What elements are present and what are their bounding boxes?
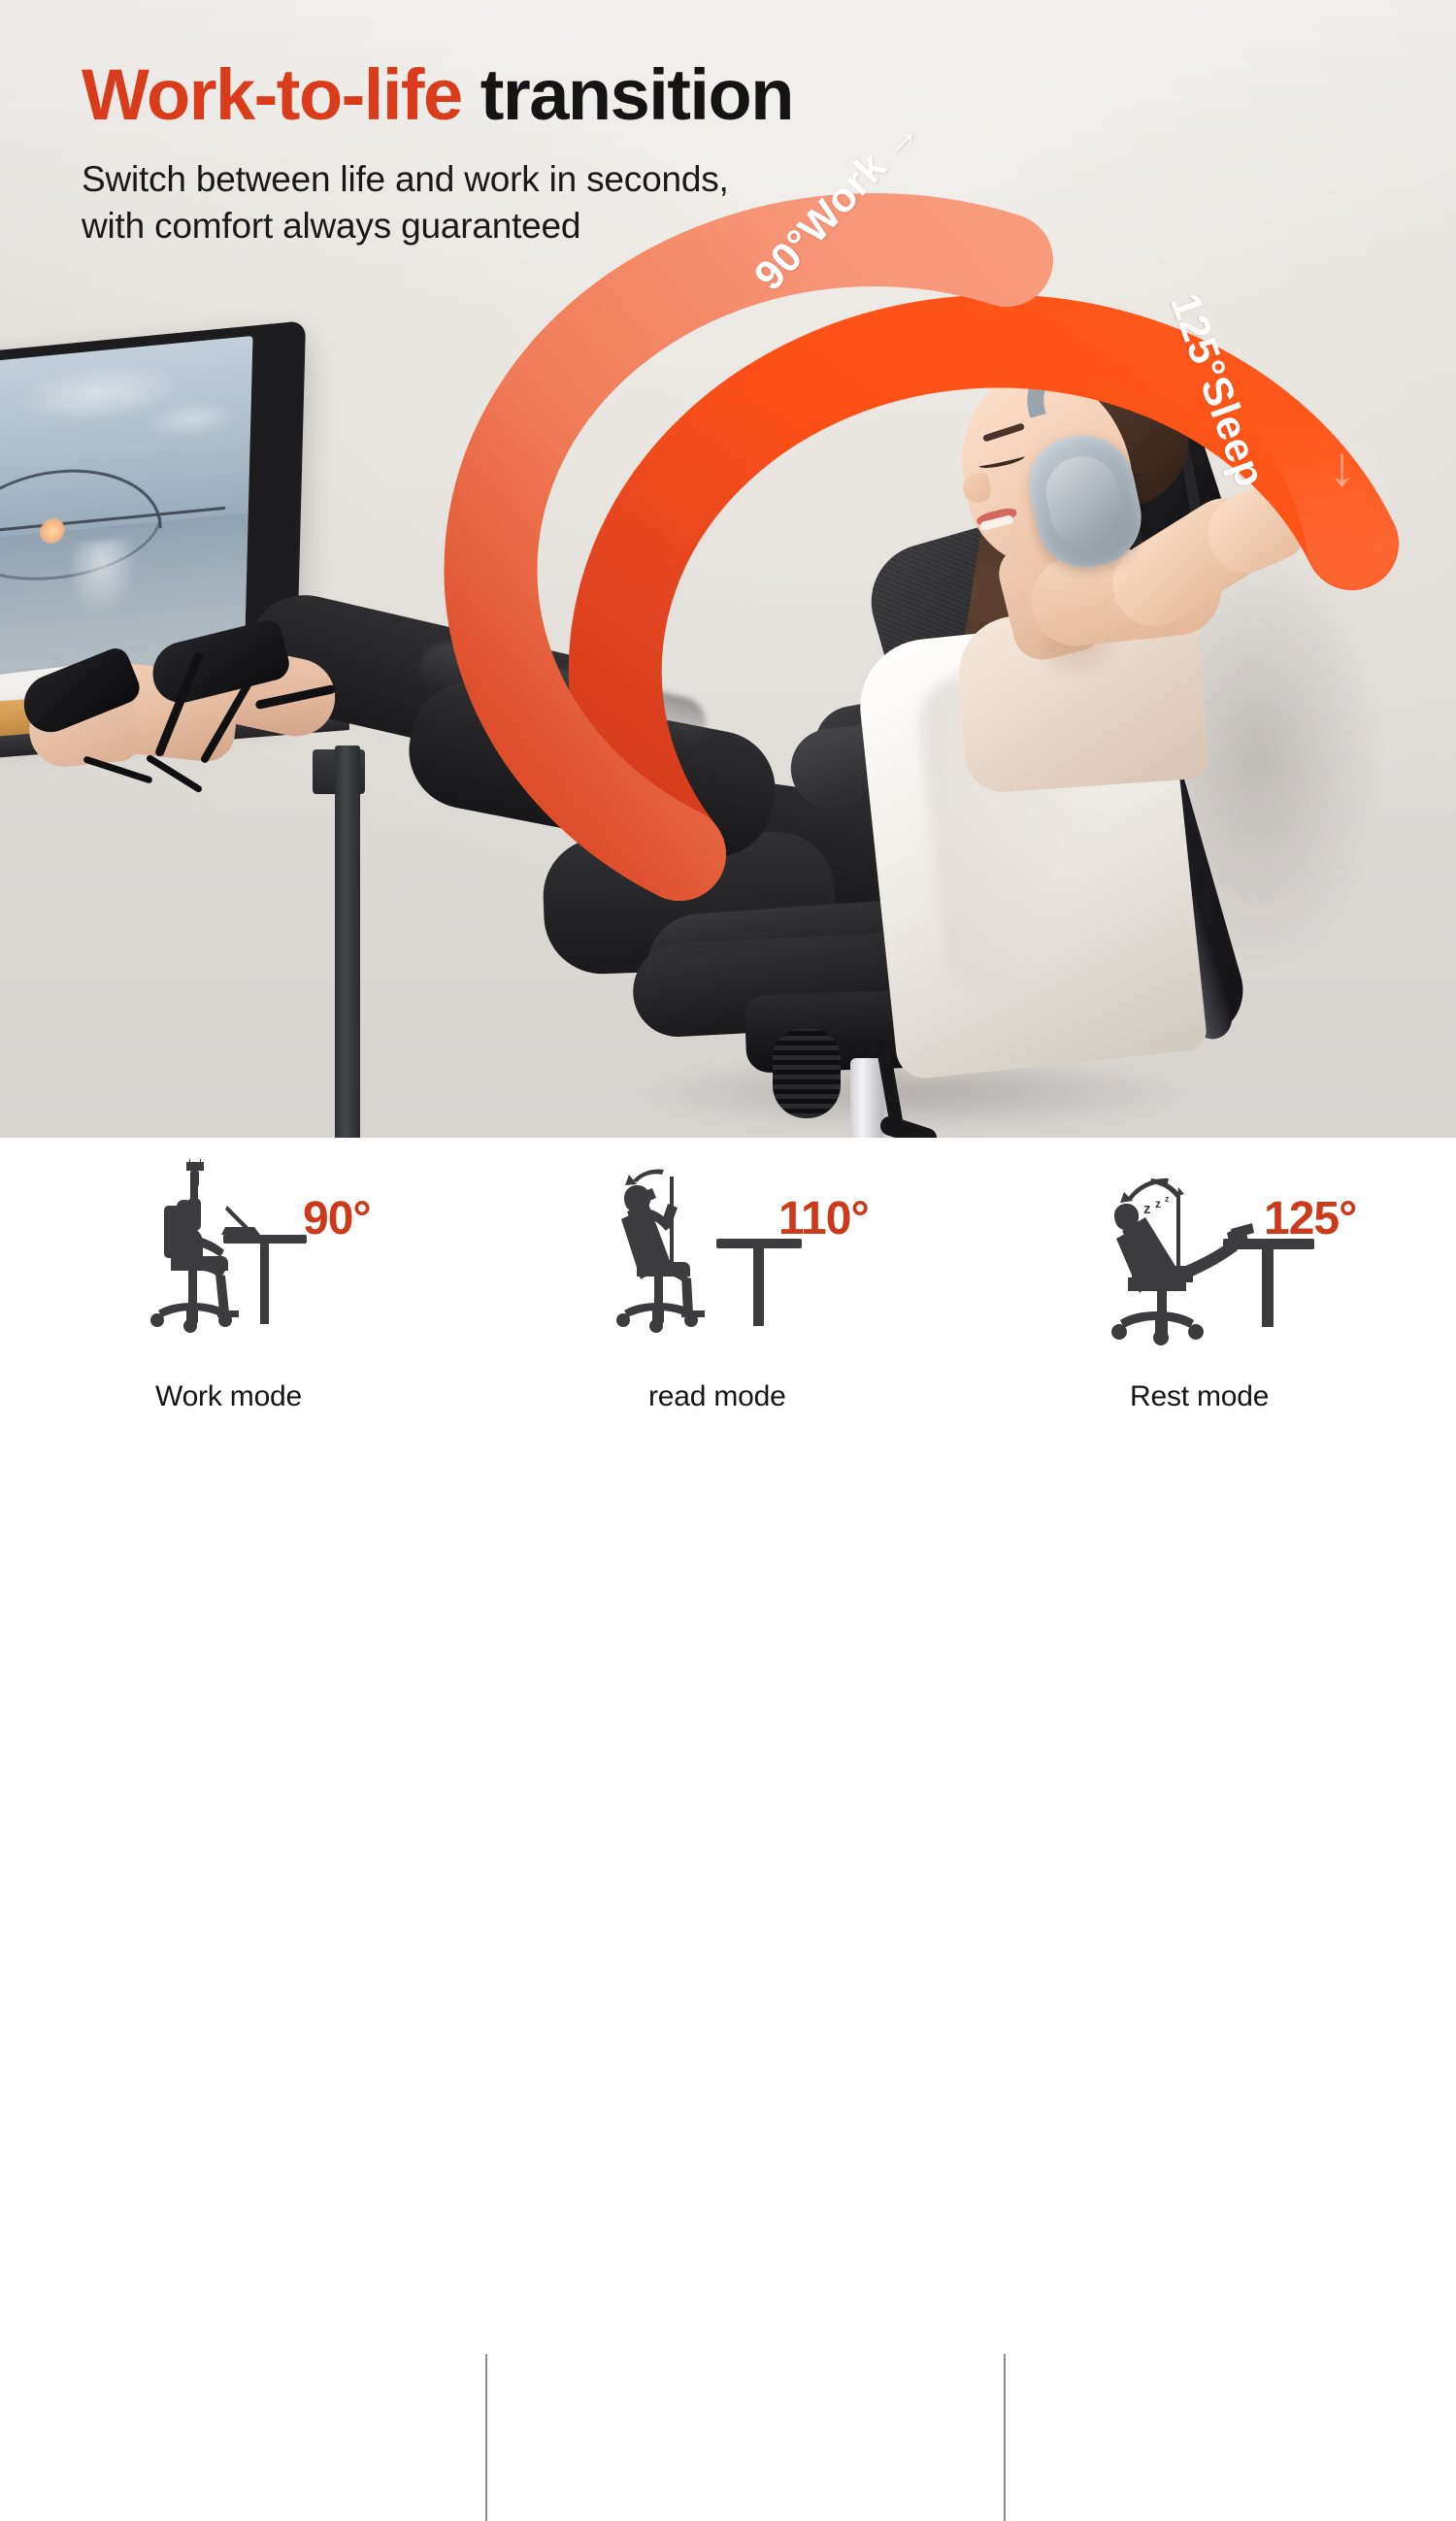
svg-text:z: z [1143,1201,1151,1217]
mode-angle-read: 110° [778,1196,869,1243]
hero-text-block: Work-to-life transition Switch between l… [82,58,1013,249]
mode-card-rest[interactable]: z z z [1004,1138,1456,1456]
person-reclined-sleeping-feet-up-icon: z z z [1107,1155,1359,1349]
subtitle-line-1: Switch between life and work in seconds, [82,156,1013,203]
recline-modes-panel: 90° Work mode [0,1138,1456,1456]
arrow-down-icon: ↓ [1328,439,1356,495]
mode-card-work[interactable]: 90° Work mode [0,1138,485,1456]
mode-icon-row: 110° [485,1138,1004,1359]
title-rest-part: transition [462,54,793,135]
svg-text:z: z [1155,1197,1161,1211]
mode-icon-row: z z z [1004,1138,1456,1359]
mode-card-read[interactable]: 110° read mode [485,1138,1004,1456]
mode-label-rest: Rest mode [1130,1380,1269,1413]
hero-photo-section: 90°Work→ 125°Sleep ↓ Work-to-life transi… [0,0,1456,1138]
person-reclined-reading-icon [608,1155,850,1349]
mode-label-work: Work mode [155,1380,302,1413]
mode-label-read: read mode [648,1380,786,1413]
title-accent-part: Work-to-life [82,54,462,135]
svg-text:z: z [1165,1194,1170,1204]
subtitle-line-2: with comfort always guaranteed [82,203,1013,249]
person-upright-at-desk-with-laptop-icon [142,1155,365,1349]
hero-subtitle: Switch between life and work in seconds,… [82,156,1013,249]
panel-divider [1004,2354,1006,2521]
mode-icon-row: 90° [0,1138,485,1359]
mode-angle-rest: 125° [1264,1196,1356,1243]
mode-angle-work: 90° [303,1196,371,1243]
panel-divider [485,2354,487,2521]
page-title: Work-to-life transition [82,58,1013,133]
